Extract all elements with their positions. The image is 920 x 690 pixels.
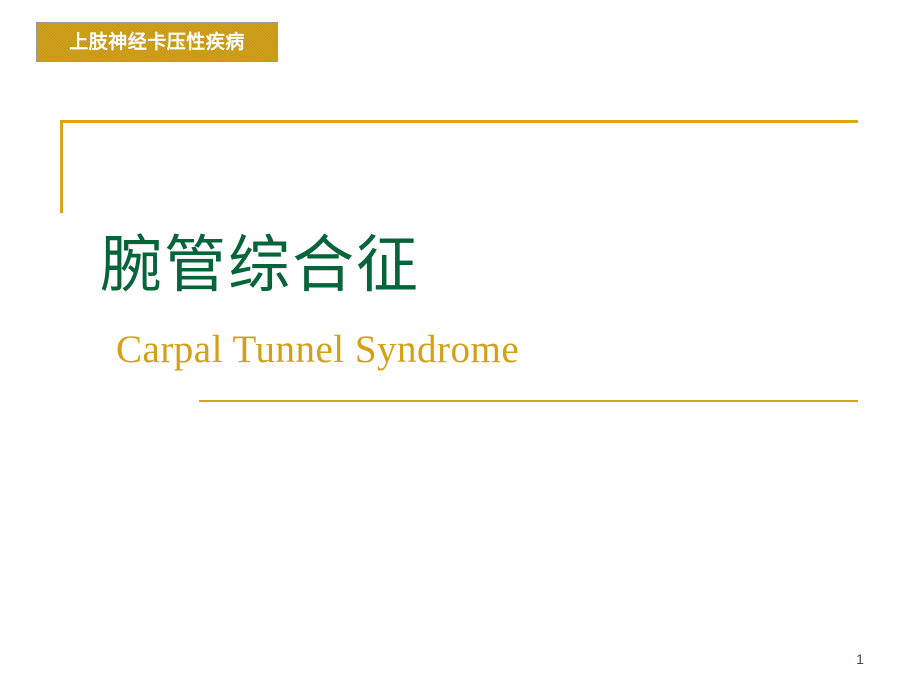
section-banner: 上肢神经卡压性疾病 [36,22,278,62]
bracket-top-rule [60,120,858,123]
slide-subtitle-english: Carpal Tunnel Syndrome [116,329,519,372]
section-banner-label: 上肢神经卡压性疾病 [69,33,245,52]
bracket-left-rule [60,120,63,213]
presentation-slide: 上肢神经卡压性疾病 腕管综合征 Carpal Tunnel Syndrome 1 [0,0,920,690]
slide-title-chinese: 腕管综合征 [100,231,420,299]
bottom-rule [199,400,858,402]
page-number: 1 [850,652,870,666]
